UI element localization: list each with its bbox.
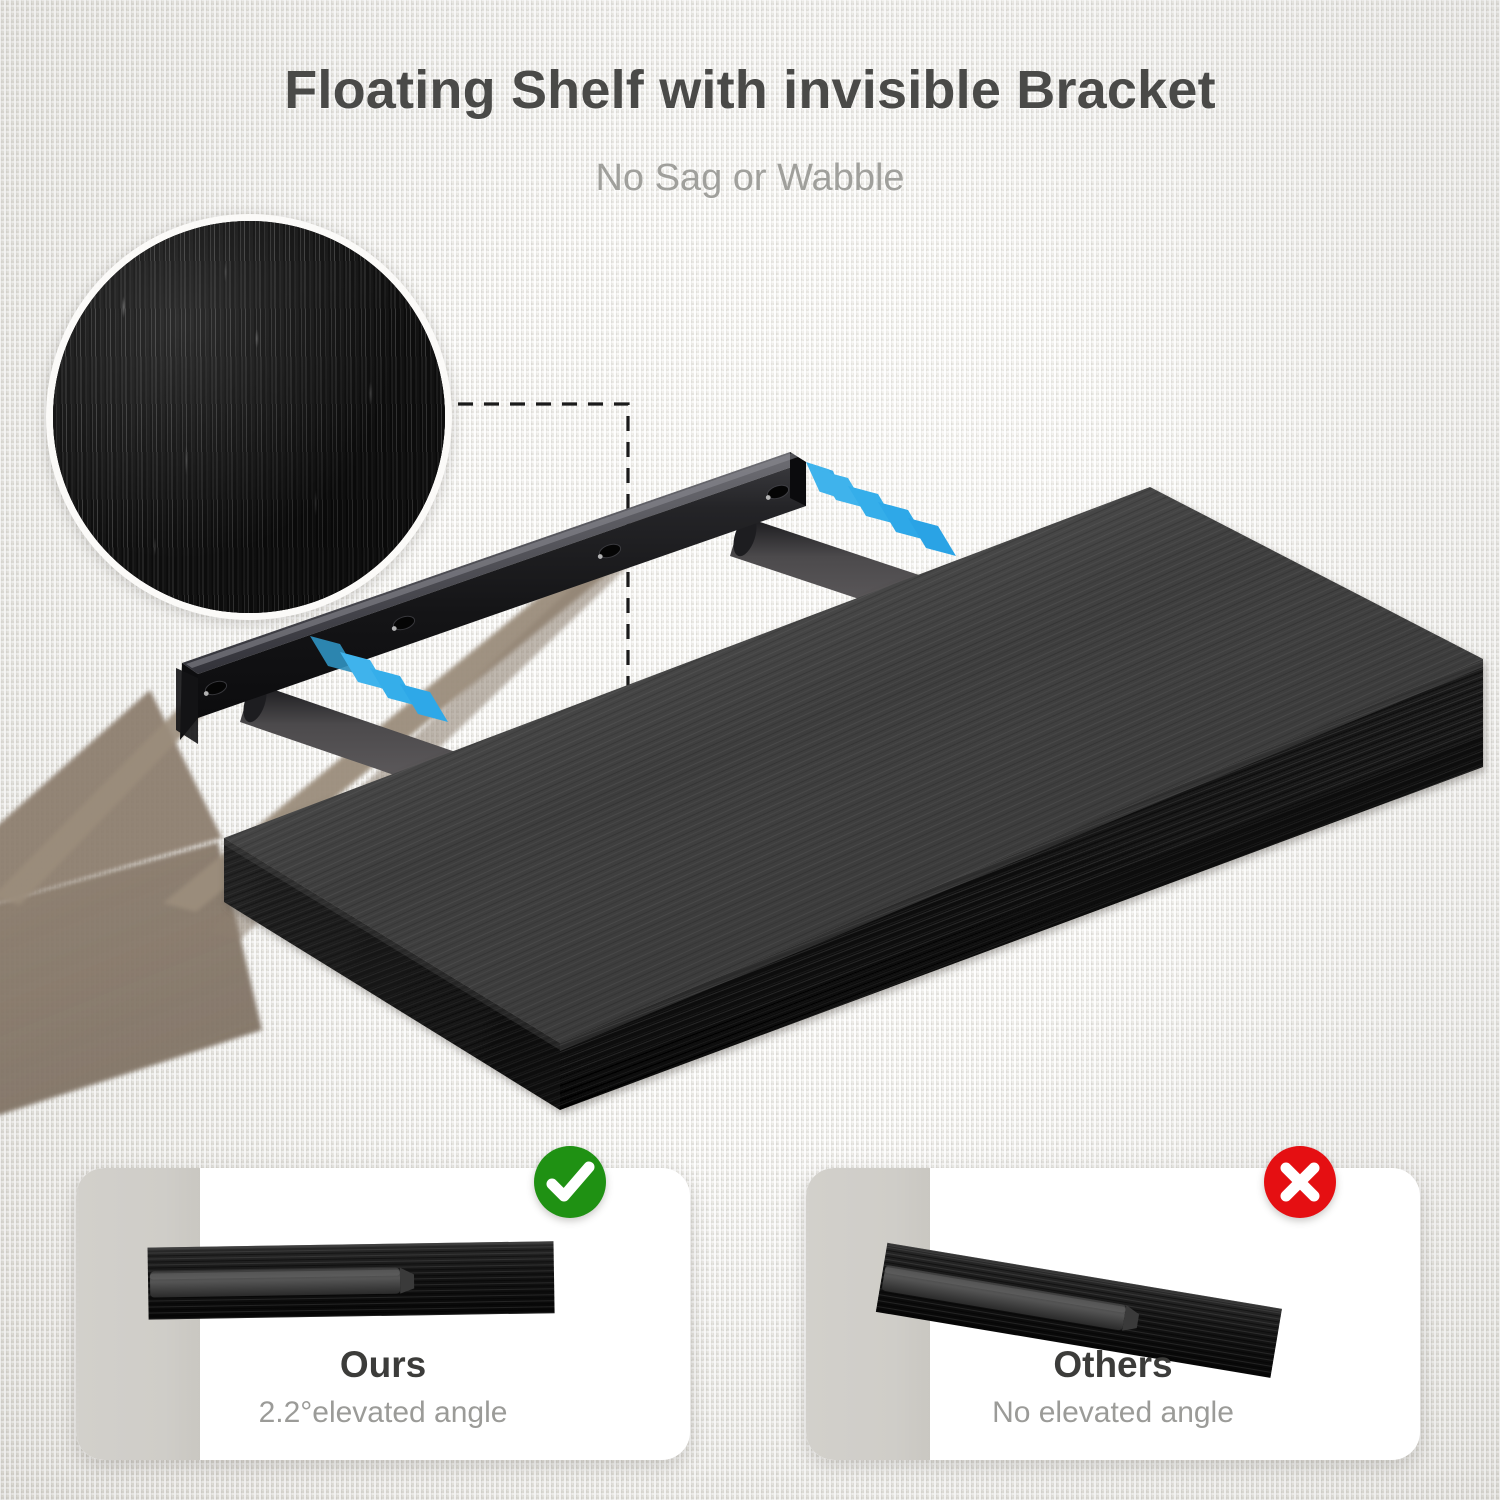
card-caption-ours: 2.2°elevated angle	[76, 1396, 690, 1430]
x-circle-icon	[1264, 1146, 1336, 1218]
check-circle-icon	[534, 1146, 606, 1218]
swatch-sheen	[53, 221, 445, 613]
card-title-others: Others	[806, 1344, 1420, 1386]
product-infographic: Floating Shelf with invisible Bracket No…	[0, 0, 1500, 1500]
card-title-ours: Ours	[76, 1344, 690, 1386]
card-caption-others: No elevated angle	[806, 1396, 1420, 1430]
comparison-cards: Ours 2.2°elevated angle	[0, 1168, 1500, 1468]
wood-grain-closeup-icon	[46, 214, 452, 620]
page-title: Floating Shelf with invisible Bracket	[0, 62, 1500, 119]
page-subtitle: No Sag or Wabble	[0, 157, 1500, 200]
header-block: Floating Shelf with invisible Bracket No…	[0, 62, 1500, 200]
